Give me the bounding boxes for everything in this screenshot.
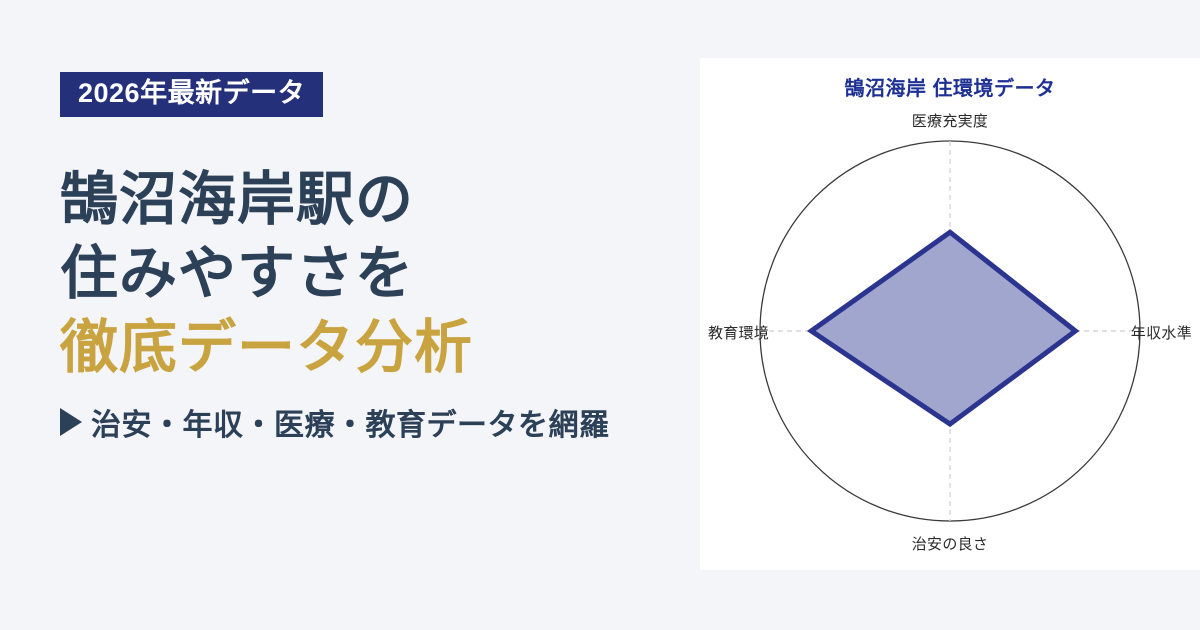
page-title: 鵠沼海岸駅の 住みやすさを 徹底データ分析 — [60, 163, 700, 386]
hero-subtitle-text: 治安・年収・医療・教育データを網羅 — [91, 400, 610, 444]
radar-chart-panel: 鵠沼海岸 住環境データ 医療充実度 年収水準 治安の良さ 教育環境 — [700, 58, 1200, 570]
headline-line-3: 徹底データ分析 — [60, 311, 700, 385]
radar-label-medical: 医療充実度 — [700, 110, 1200, 131]
radar-label-safety: 治安の良さ — [700, 533, 1200, 554]
date-badge: 2026年最新データ — [60, 72, 323, 117]
headline-line-1: 鵠沼海岸駅の — [60, 163, 700, 237]
radar-chart-svg — [700, 58, 1200, 570]
radar-label-education: 教育環境 — [708, 322, 769, 343]
play-triangle-icon — [60, 408, 82, 436]
radar-label-income: 年収水準 — [1131, 322, 1192, 343]
hero-subtitle: 治安・年収・医療・教育データを網羅 — [60, 400, 700, 444]
radar-data-polygon — [811, 232, 1075, 424]
hero-text-column: 2026年最新データ 鵠沼海岸駅の 住みやすさを 徹底データ分析 治安・年収・医… — [0, 0, 700, 630]
headline-line-2: 住みやすさを — [60, 237, 700, 311]
